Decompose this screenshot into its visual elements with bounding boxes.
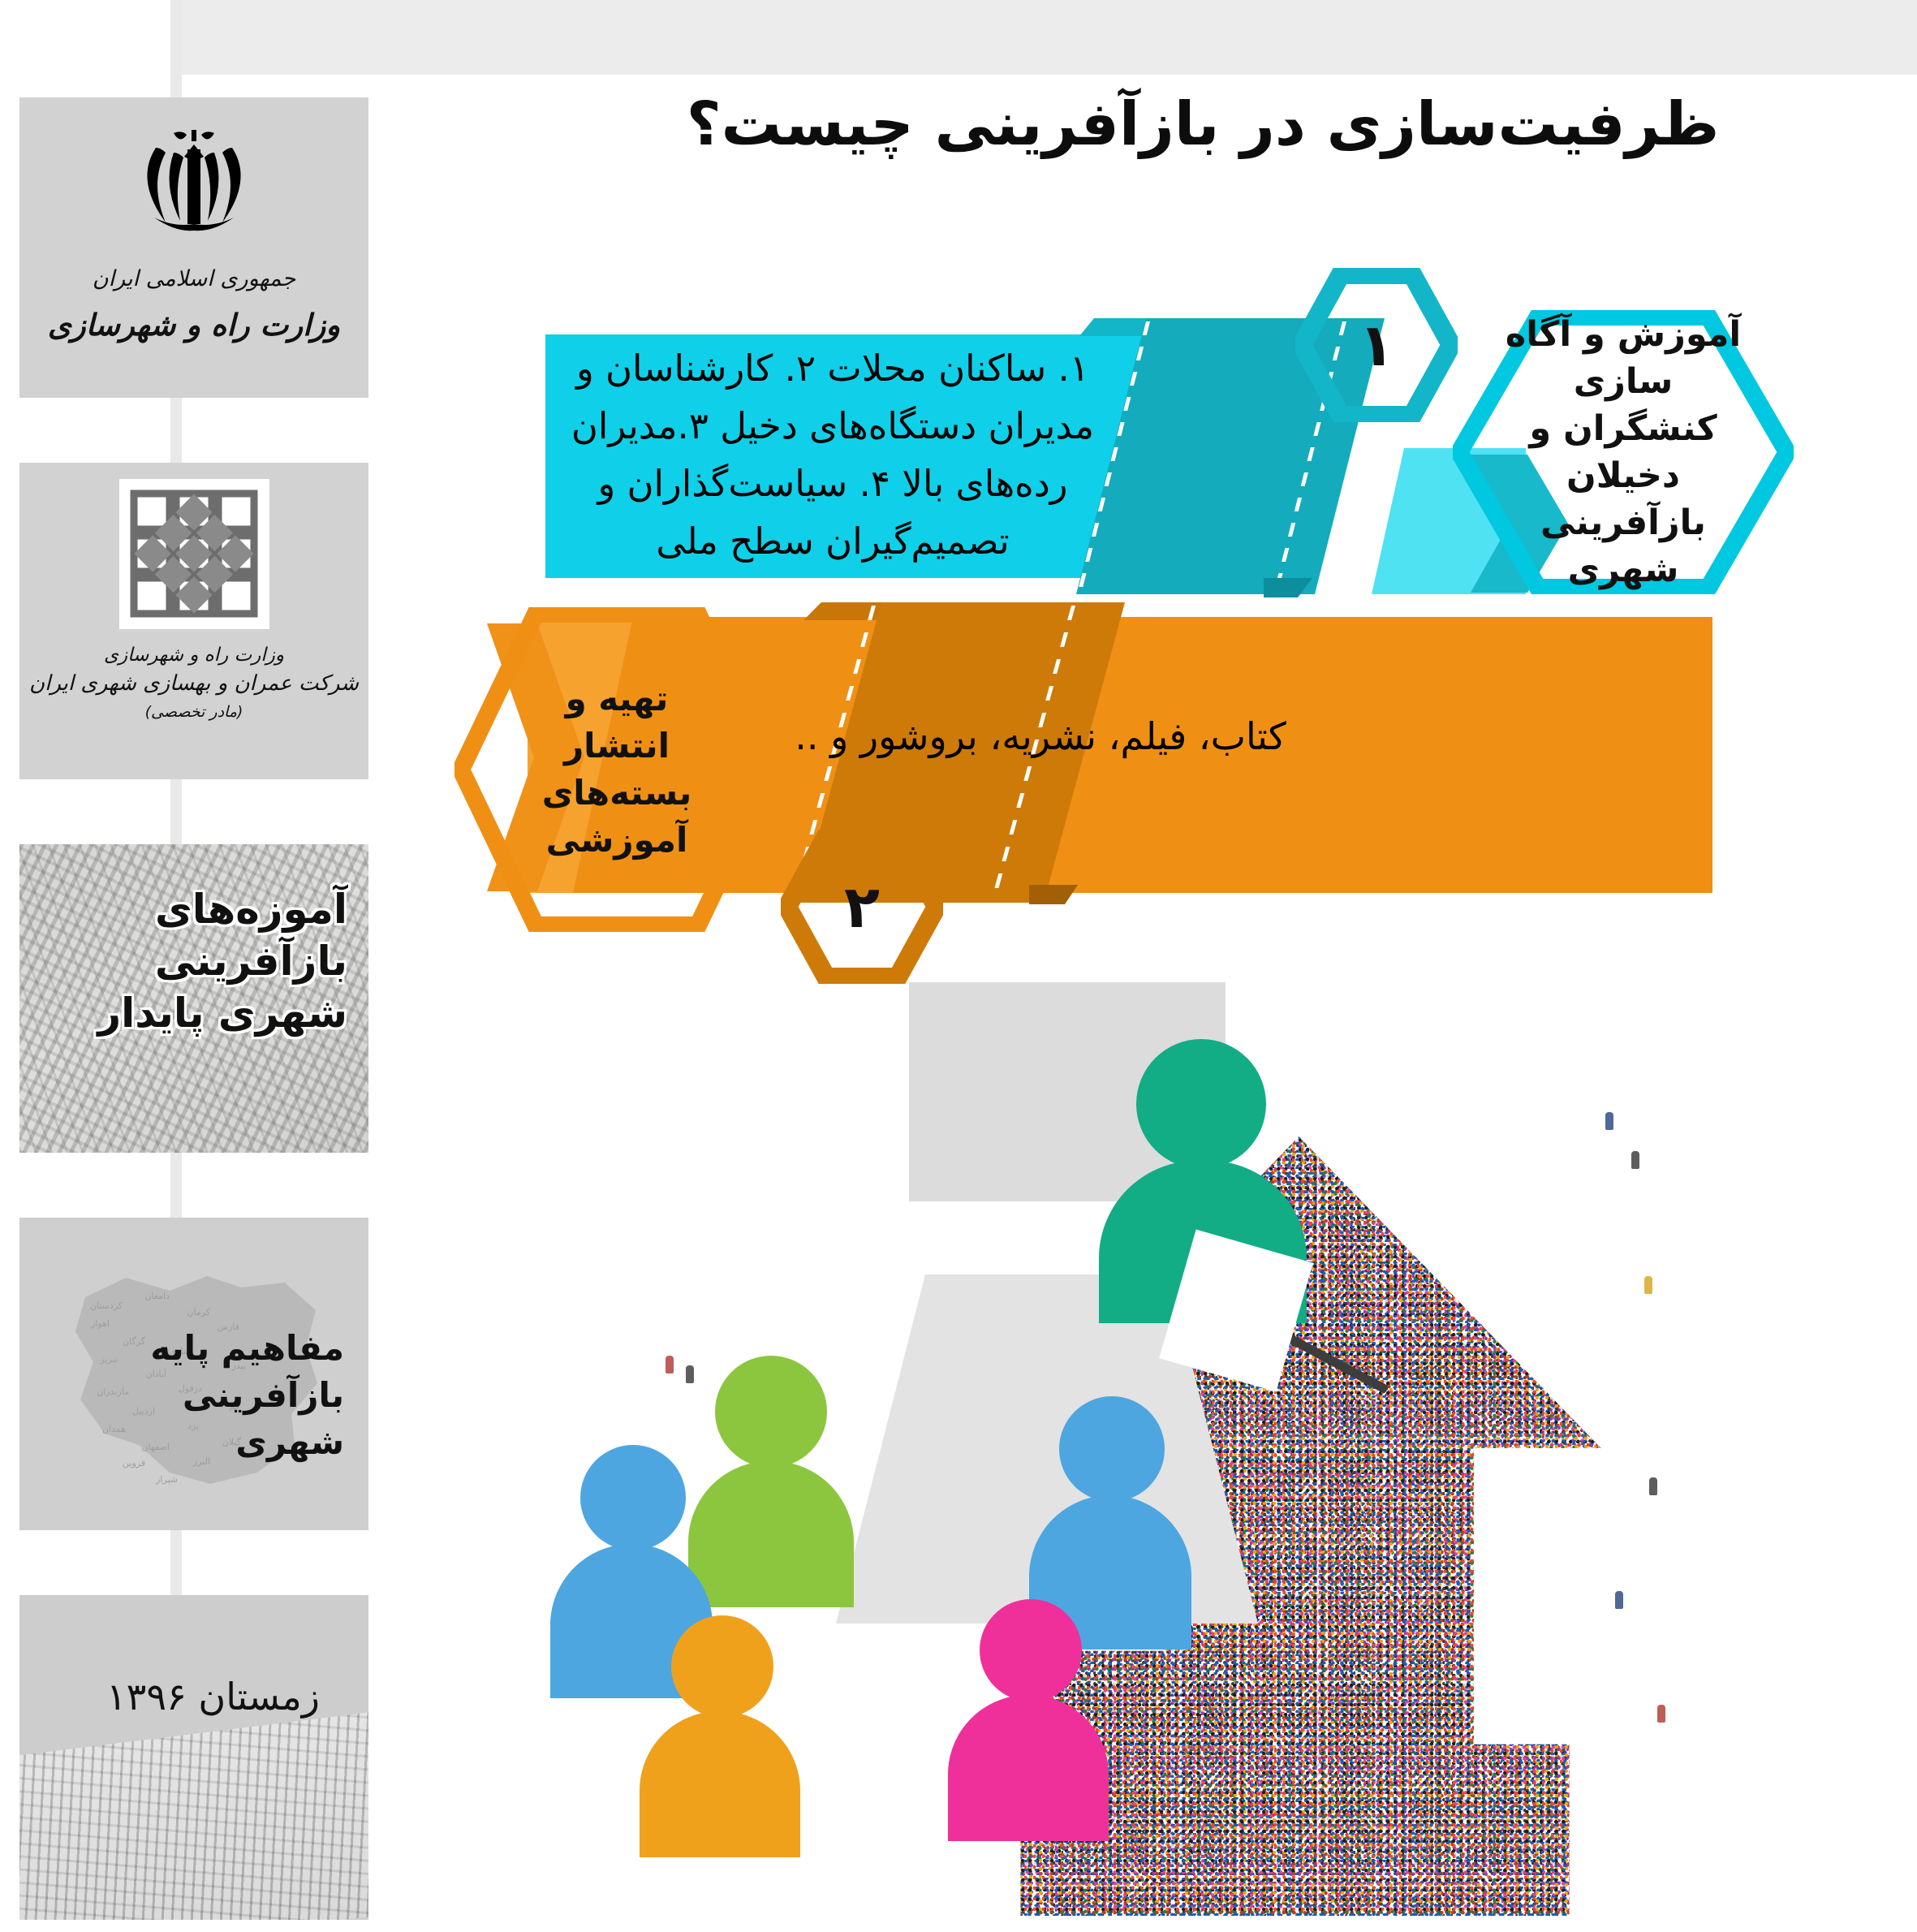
sidebar: جمهوری اسلامی ایران وزارت راه و شهرسازی bbox=[19, 97, 368, 1920]
sidebar-item-topic-title[interactable]: کردستاندامغان اهوازکرمان گرگانفارس تبریز… bbox=[19, 1218, 368, 1530]
sidebar-item-date[interactable]: زمستان ۱۳۹۶ bbox=[19, 1595, 368, 1920]
step-1-number-hexagon[interactable]: ۱ bbox=[1295, 268, 1458, 422]
step-1-label-hexagon[interactable]: آموزش و آگاه سازی کنشگران و دخیلان بازآف… bbox=[1453, 310, 1794, 594]
page-frame-top-band bbox=[170, 0, 1917, 75]
udrc-square-pattern-icon bbox=[119, 479, 269, 629]
step-1-fold-shadow bbox=[1264, 578, 1312, 597]
sidebar-item-company-logo[interactable]: وزارت راه و شهرسازی شرکت عمران و بهسازی … bbox=[19, 463, 368, 779]
svg-text:شیراز: شیراز bbox=[155, 1474, 178, 1485]
step-1-detail-text: ۱. ساکنان محلات ۲. کارشناسان و مدیران دس… bbox=[549, 339, 1117, 570]
svg-text:دامغان: دامغان bbox=[144, 1291, 170, 1301]
student-figure-pink bbox=[941, 1599, 1120, 1835]
company-name-label: شرکت عمران و بهسازی شهری ایران bbox=[19, 669, 368, 700]
svg-text:کردستان: کردستان bbox=[90, 1300, 123, 1311]
step-2-label-hexagon[interactable]: تهیه و انتشار بسته‌های آموزشی bbox=[454, 607, 779, 932]
step-2-label-text: تهیه و انتشار بسته‌های آموزشی bbox=[454, 607, 779, 932]
step-1-label-text: آموزش و آگاه سازی کنشگران و دخیلان بازآف… bbox=[1453, 310, 1794, 594]
sidebar-item-series-title[interactable]: آموزه‌های بازآفرینی شهری پایدار bbox=[19, 844, 368, 1153]
series-title-label: آموزه‌های بازآفرینی شهری پایدار bbox=[80, 883, 347, 1039]
ministry-country-label: جمهوری اسلامی ایران bbox=[19, 266, 368, 291]
iran-emblem-icon bbox=[117, 117, 271, 255]
city-plan-photo bbox=[19, 1595, 368, 1920]
step-2-detail-text: کتاب، فیلم، نشریه، بروشور و .. bbox=[724, 714, 1357, 758]
sidebar-item-ministry-emblem[interactable]: جمهوری اسلامی ایران وزارت راه و شهرسازی bbox=[19, 97, 368, 398]
teacher-figure-icon bbox=[1088, 1039, 1315, 1307]
step-2-fold-shadow bbox=[1029, 885, 1078, 904]
page-title: ظرفیت‌سازی در بازآفرینی چیست؟ bbox=[635, 89, 1771, 159]
svg-text:کرمان: کرمان bbox=[187, 1307, 210, 1317]
student-figure-orange bbox=[633, 1615, 812, 1851]
topic-title-label: مفاهیم پایه بازآفرینی شهری bbox=[68, 1325, 344, 1466]
ministry-name-label: وزارت راه و شهرسازی bbox=[19, 308, 368, 343]
company-suffix-label: (مادر تخصصی) bbox=[19, 701, 368, 724]
publication-date-label: زمستان ۱۳۹۶ bbox=[106, 1675, 320, 1719]
training-session-illustration bbox=[568, 958, 1721, 1916]
infographic-page: جمهوری اسلامی ایران وزارت راه و شهرسازی bbox=[0, 0, 1917, 1917]
step-1-number-label: ۱ bbox=[1295, 268, 1458, 422]
company-ministry-label: وزارت راه و شهرسازی bbox=[19, 642, 368, 669]
